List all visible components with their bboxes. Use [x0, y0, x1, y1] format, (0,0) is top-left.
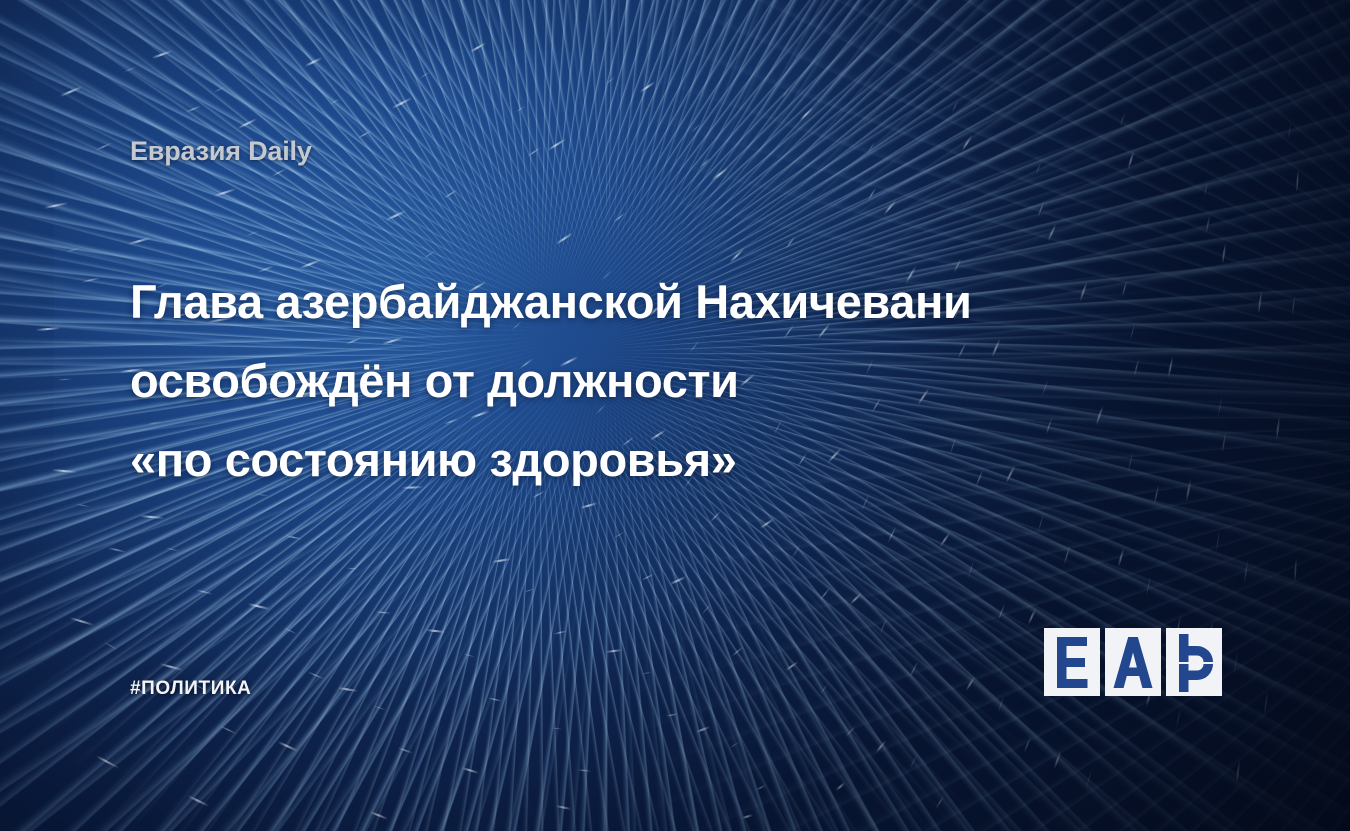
- headline-line-3: «по состоянию здоровья»: [130, 420, 1140, 499]
- eadaily-logo[interactable]: [1044, 628, 1224, 696]
- news-card: Евразия Daily Глава азербайджанской Нахи…: [0, 0, 1350, 831]
- headline-line-2: освобождён от должности: [130, 341, 1140, 420]
- headline: Глава азербайджанской Нахичевани освобож…: [130, 262, 1140, 499]
- letter-a-tile-icon: [1105, 628, 1161, 696]
- letter-e-tile-icon: [1044, 628, 1100, 696]
- headline-line-1: Глава азербайджанской Нахичевани: [130, 262, 1140, 341]
- card-content: Евразия Daily Глава азербайджанской Нахи…: [0, 0, 1350, 831]
- letter-d-tile-icon: [1166, 628, 1222, 696]
- category-tag-politika[interactable]: #ПОЛИТИКА: [130, 678, 252, 700]
- brand-wordmark: Евразия Daily: [130, 136, 312, 167]
